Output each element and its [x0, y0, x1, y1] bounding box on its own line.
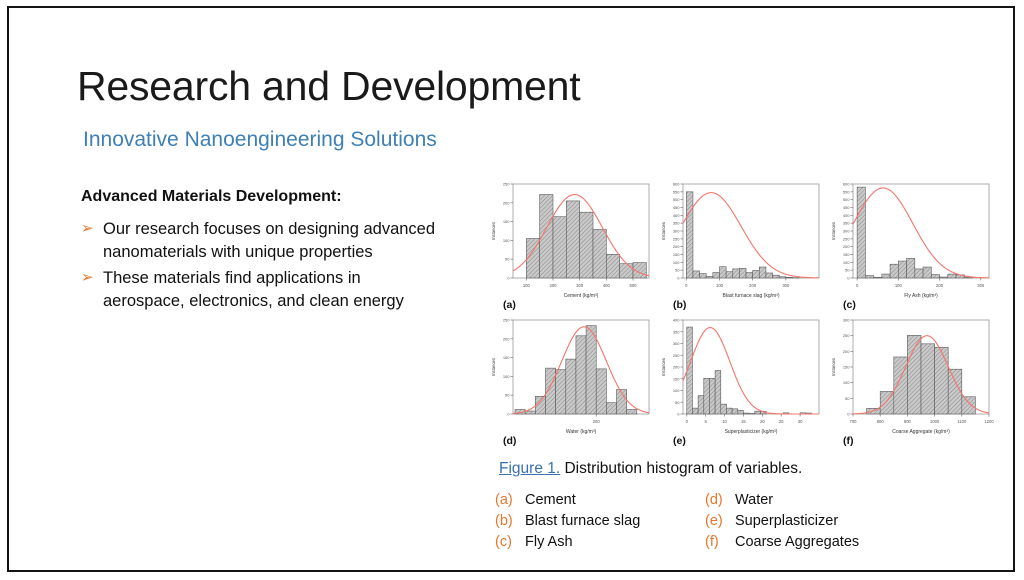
svg-text:200: 200: [673, 244, 680, 249]
svg-text:20: 20: [760, 419, 765, 424]
legend-label: Coarse Aggregates: [735, 534, 859, 550]
arrow-bullet-icon: ➢: [81, 218, 103, 239]
svg-text:250: 250: [843, 236, 850, 241]
svg-text:500: 500: [630, 283, 638, 288]
svg-text:450: 450: [843, 205, 850, 210]
svg-text:50: 50: [505, 393, 510, 398]
legend-label: Water: [735, 492, 773, 508]
section-heading: Advanced Materials Development:: [81, 188, 342, 206]
svg-text:Instances: Instances: [831, 358, 836, 376]
svg-text:1100: 1100: [957, 419, 967, 424]
svg-text:100: 100: [895, 283, 903, 288]
legend-item-c: (c) Fly Ash: [495, 534, 695, 555]
svg-text:350: 350: [673, 329, 680, 334]
svg-text:30: 30: [798, 419, 803, 424]
svg-text:100: 100: [503, 238, 510, 243]
svg-text:300: 300: [673, 229, 680, 234]
histogram-chart-b: 0100200300050100150200250300350400450500…: [657, 176, 827, 312]
svg-text:200: 200: [503, 200, 510, 205]
svg-text:Cement (kg/m³): Cement (kg/m³): [564, 293, 599, 299]
svg-text:1000: 1000: [930, 419, 940, 424]
svg-text:150: 150: [673, 376, 680, 381]
svg-text:100: 100: [503, 374, 510, 379]
svg-text:Instances: Instances: [491, 358, 496, 376]
svg-text:600: 600: [673, 182, 680, 187]
list-item-label: Our research focuses on designing advanc…: [103, 218, 441, 265]
legend-label: Fly Ash: [525, 534, 573, 550]
svg-text:500: 500: [843, 197, 850, 202]
legend-key: (f): [705, 534, 735, 550]
svg-text:450: 450: [673, 205, 680, 210]
svg-text:600: 600: [843, 182, 850, 187]
svg-text:0: 0: [507, 276, 510, 281]
svg-text:Fly Ash (kg/m³): Fly Ash (kg/m³): [904, 293, 938, 299]
svg-text:200: 200: [593, 419, 601, 424]
bullet-list: ➢ Our research focuses on designing adva…: [81, 218, 441, 316]
chart-panel-c: 0100200300050100150200250300350400450500…: [827, 176, 997, 312]
list-item: ➢ These materials find applications in a…: [81, 267, 441, 314]
svg-text:250: 250: [673, 353, 680, 358]
svg-text:800: 800: [877, 419, 885, 424]
svg-text:Instances: Instances: [661, 358, 666, 376]
svg-text:150: 150: [843, 365, 850, 370]
svg-text:100: 100: [843, 260, 850, 265]
svg-text:550: 550: [843, 189, 850, 194]
svg-text:200: 200: [550, 283, 558, 288]
legend-key: (a): [495, 492, 525, 508]
svg-text:200: 200: [843, 349, 850, 354]
svg-text:300: 300: [977, 283, 985, 288]
histogram-chart-d: 200050100150200250Water (kg/m³)Instances: [487, 312, 657, 448]
panel-label-d: (d): [503, 435, 516, 447]
svg-text:500: 500: [673, 197, 680, 202]
panel-label-c: (c): [843, 299, 856, 311]
svg-text:50: 50: [845, 396, 850, 401]
svg-text:100: 100: [673, 388, 680, 393]
svg-text:Coarse Aggregate (kg/m³): Coarse Aggregate (kg/m³): [892, 429, 950, 435]
svg-text:300: 300: [673, 341, 680, 346]
svg-text:0: 0: [507, 412, 510, 417]
svg-text:0: 0: [856, 283, 859, 288]
svg-text:Superplasticizer (kg/m³): Superplasticizer (kg/m³): [725, 429, 778, 435]
svg-text:0: 0: [847, 276, 850, 281]
histogram-chart-c: 0100200300050100150200250300350400450500…: [827, 176, 997, 312]
svg-text:250: 250: [673, 236, 680, 241]
svg-text:250: 250: [843, 333, 850, 338]
svg-text:50: 50: [675, 268, 680, 273]
svg-text:Blast furnace slag (kg/m³): Blast furnace slag (kg/m³): [723, 293, 780, 299]
svg-text:5: 5: [704, 419, 707, 424]
svg-text:400: 400: [673, 213, 680, 218]
chart-panel-d: 200050100150200250Water (kg/m³)Instances…: [487, 312, 657, 448]
legend-key: (e): [705, 513, 735, 529]
legend-label: Blast furnace slag: [525, 513, 640, 529]
svg-text:1200: 1200: [984, 419, 994, 424]
svg-text:0: 0: [677, 412, 680, 417]
chart-panel-a: 100200300400500050100150200250Cement (kg…: [487, 176, 657, 312]
svg-text:200: 200: [503, 336, 510, 341]
svg-text:50: 50: [845, 268, 850, 273]
svg-text:150: 150: [503, 355, 510, 360]
histogram-chart-e: 051015202530050100150200250300350400Supe…: [657, 312, 827, 448]
svg-text:Water (kg/m³): Water (kg/m³): [566, 429, 597, 435]
svg-text:250: 250: [503, 318, 510, 323]
svg-text:400: 400: [603, 283, 611, 288]
legend-key: (c): [495, 534, 525, 550]
svg-text:700: 700: [850, 419, 858, 424]
svg-text:50: 50: [675, 400, 680, 405]
svg-text:300: 300: [576, 283, 584, 288]
svg-text:10: 10: [722, 419, 727, 424]
figure-legend: (a) Cement (d) Water (b) Blast furnace s…: [495, 492, 905, 555]
svg-text:0: 0: [677, 276, 680, 281]
figure-caption: Figure 1. Distribution histogram of vari…: [499, 460, 802, 478]
slide-content: Research and Development Innovative Nano…: [9, 8, 1013, 570]
svg-text:150: 150: [673, 252, 680, 257]
svg-text:50: 50: [505, 257, 510, 262]
chart-panel-e: 051015202530050100150200250300350400Supe…: [657, 312, 827, 448]
svg-text:100: 100: [843, 380, 850, 385]
svg-text:25: 25: [779, 419, 784, 424]
legend-key: (b): [495, 513, 525, 529]
svg-text:Instances: Instances: [831, 222, 836, 240]
svg-text:200: 200: [673, 365, 680, 370]
page-title: Research and Development: [77, 63, 580, 110]
list-item-label: These materials find applications in aer…: [103, 267, 441, 314]
legend-label: Cement: [525, 492, 576, 508]
panel-label-b: (b): [673, 299, 686, 311]
svg-text:200: 200: [936, 283, 944, 288]
svg-text:250: 250: [503, 182, 510, 187]
svg-text:0: 0: [847, 412, 850, 417]
svg-text:100: 100: [673, 260, 680, 265]
svg-text:300: 300: [782, 283, 790, 288]
chart-panel-b: 0100200300050100150200250300350400450500…: [657, 176, 827, 312]
chart-panel-f: 700800900100011001200050100150200250300C…: [827, 312, 997, 448]
svg-text:150: 150: [843, 252, 850, 257]
svg-text:400: 400: [843, 213, 850, 218]
figure-caption-text: Distribution histogram of variables.: [564, 460, 802, 477]
svg-text:100: 100: [523, 283, 531, 288]
svg-text:200: 200: [843, 244, 850, 249]
legend-item-f: (f) Coarse Aggregates: [705, 534, 905, 555]
legend-key: (d): [705, 492, 735, 508]
legend-item-d: (d) Water: [705, 492, 905, 513]
svg-text:400: 400: [673, 318, 680, 323]
histogram-grid: 100200300400500050100150200250Cement (kg…: [487, 176, 997, 448]
svg-text:15: 15: [741, 419, 746, 424]
svg-text:300: 300: [843, 229, 850, 234]
svg-text:Instances: Instances: [491, 222, 496, 240]
svg-text:150: 150: [503, 219, 510, 224]
histogram-chart-f: 700800900100011001200050100150200250300C…: [827, 312, 997, 448]
panel-label-a: (a): [503, 299, 516, 311]
svg-text:550: 550: [673, 189, 680, 194]
histogram-chart-a: 100200300400500050100150200250Cement (kg…: [487, 176, 657, 312]
legend-item-a: (a) Cement: [495, 492, 695, 513]
svg-text:100: 100: [716, 283, 724, 288]
arrow-bullet-icon: ➢: [81, 267, 103, 288]
panel-label-f: (f): [843, 435, 854, 447]
panel-label-e: (e): [673, 435, 686, 447]
page-subtitle: Innovative Nanoengineering Solutions: [83, 128, 437, 152]
svg-text:0: 0: [685, 283, 688, 288]
svg-text:900: 900: [904, 419, 912, 424]
figure-number-link[interactable]: Figure 1.: [499, 460, 560, 477]
legend-item-e: (e) Superplasticizer: [705, 513, 905, 534]
svg-text:300: 300: [843, 318, 850, 323]
svg-text:0: 0: [686, 419, 689, 424]
svg-text:350: 350: [843, 221, 850, 226]
slide-frame: Research and Development Innovative Nano…: [7, 6, 1015, 572]
list-item: ➢ Our research focuses on designing adva…: [81, 218, 441, 265]
svg-text:Instances: Instances: [661, 222, 666, 240]
svg-text:350: 350: [673, 221, 680, 226]
svg-text:200: 200: [749, 283, 757, 288]
legend-label: Superplasticizer: [735, 513, 838, 529]
figure-block: 100200300400500050100150200250Cement (kg…: [487, 176, 997, 448]
legend-item-b: (b) Blast furnace slag: [495, 513, 695, 534]
